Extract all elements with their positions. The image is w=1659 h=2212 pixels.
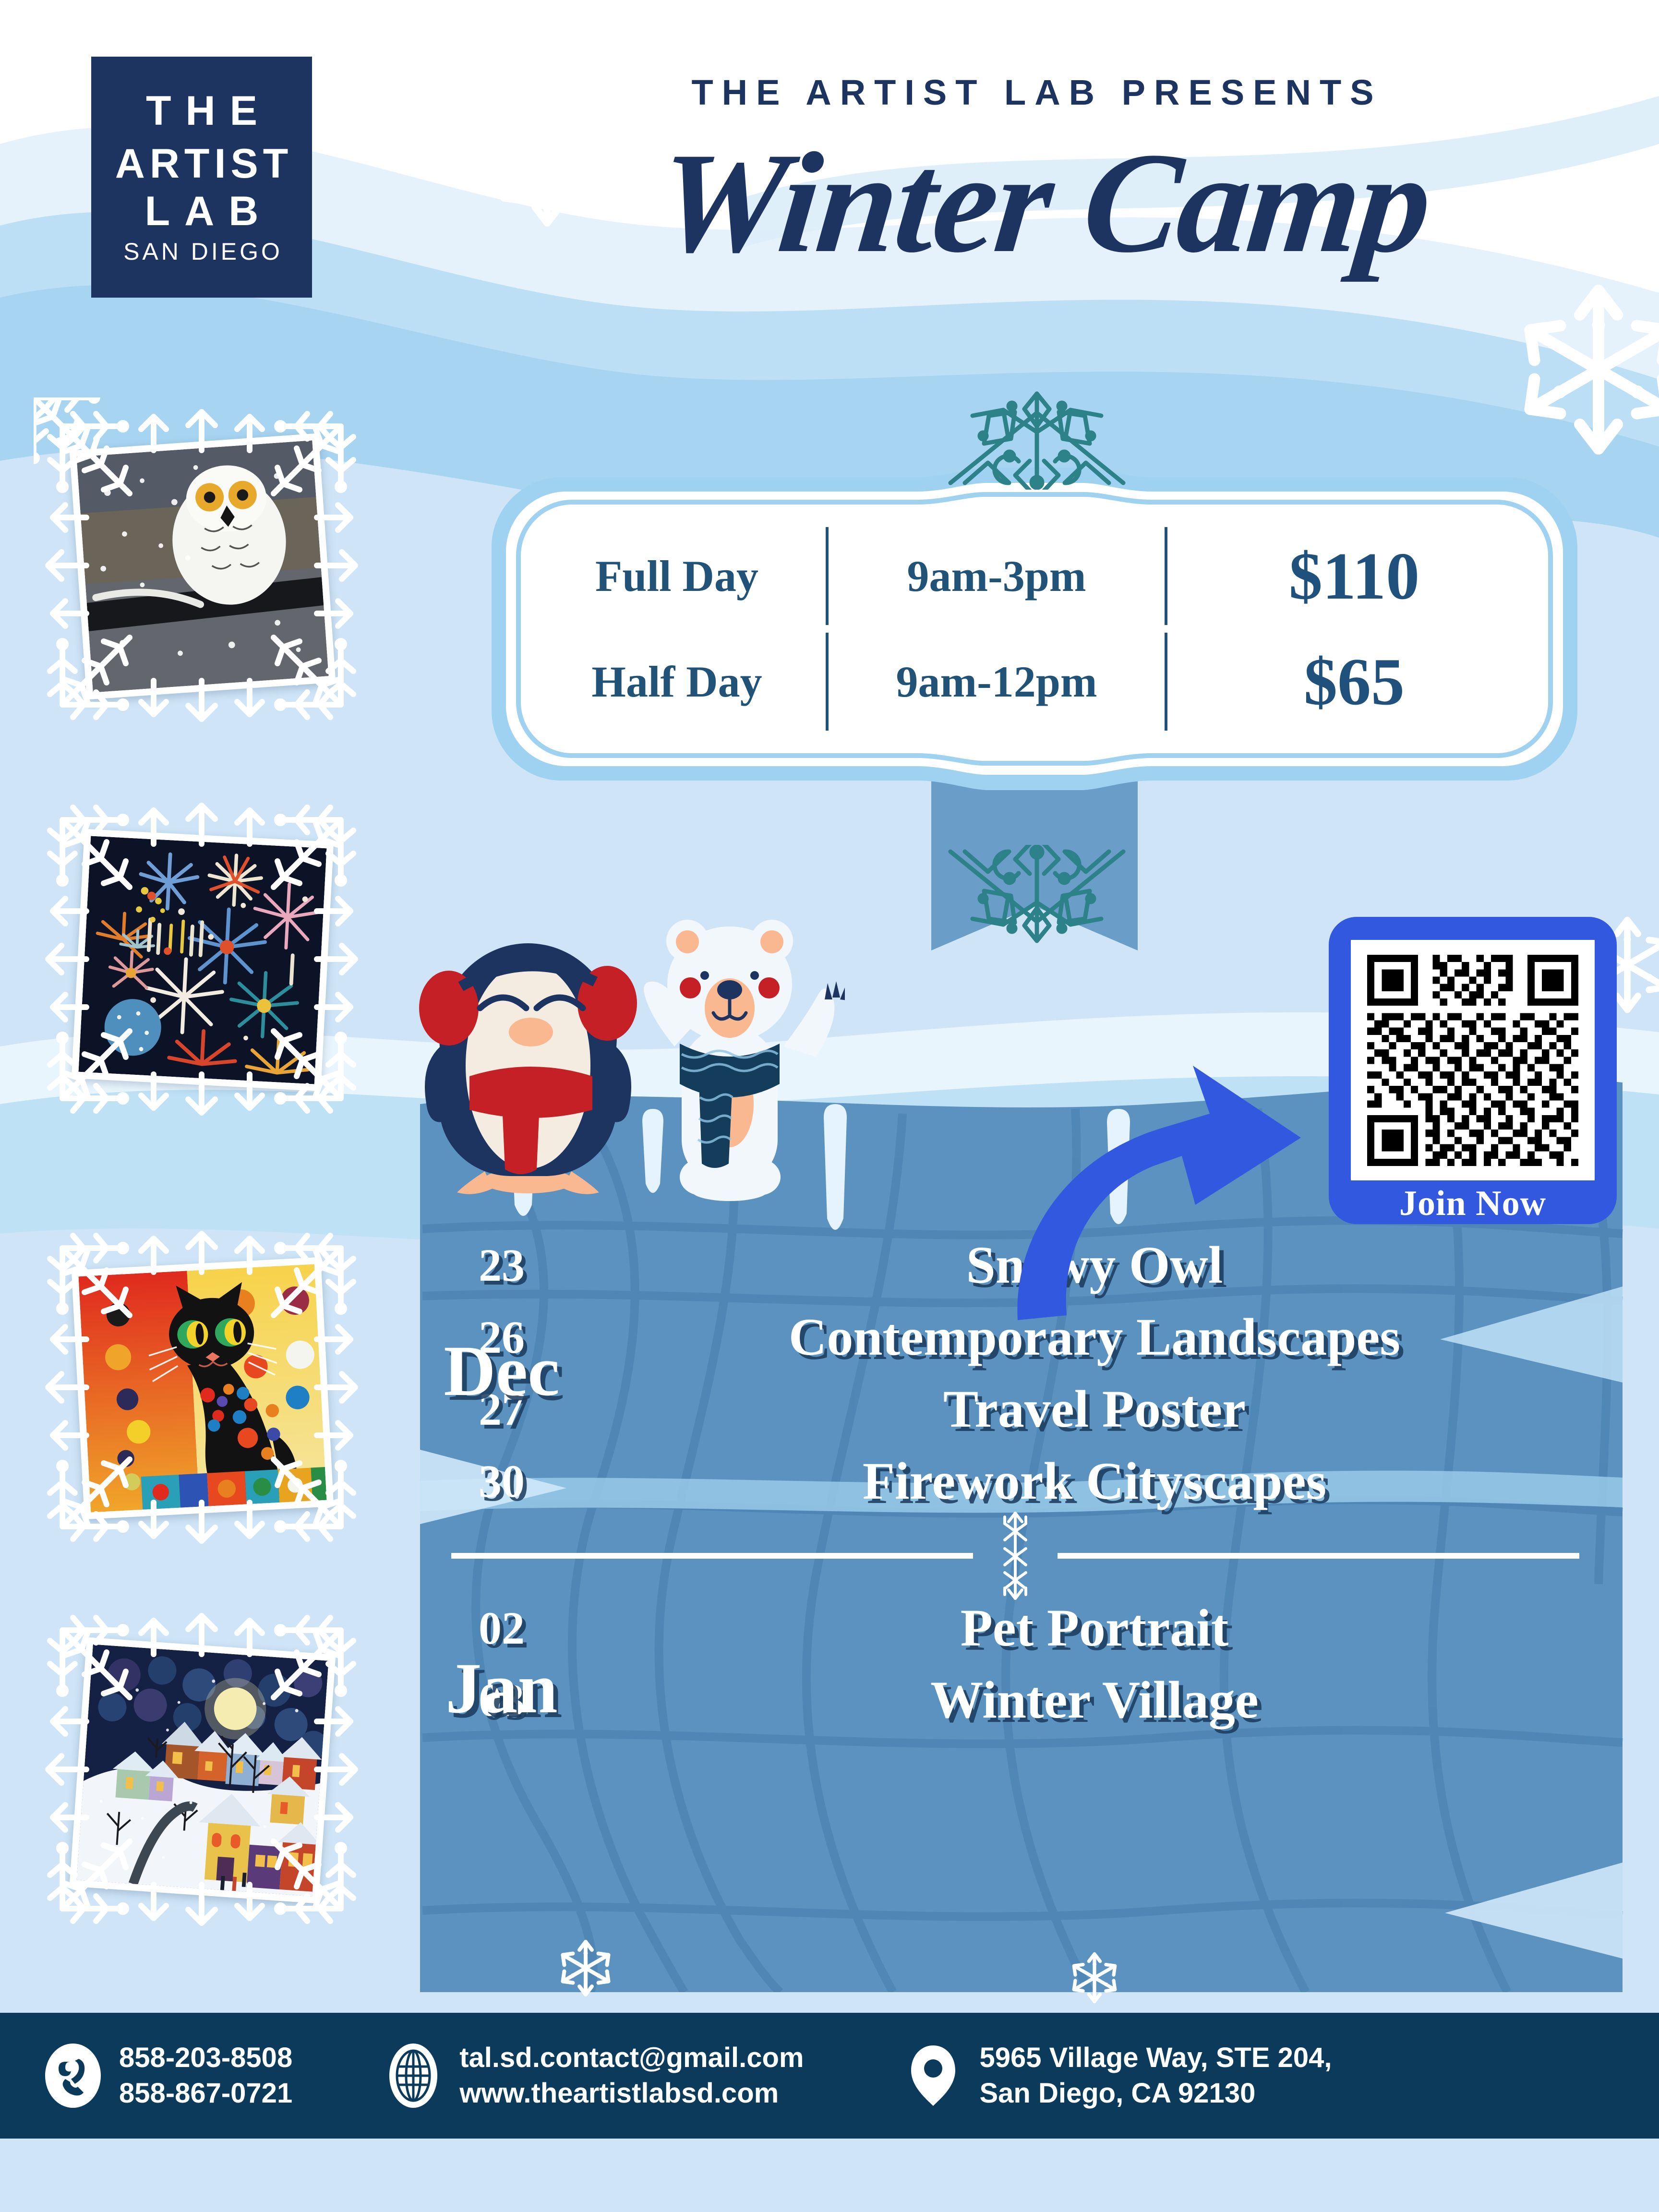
brand-logo: THE ARTIST LAB SAN DIEGO <box>91 57 312 298</box>
section-divider <box>451 1534 1579 1577</box>
logo-line-lab: LAB <box>131 191 273 233</box>
page-title: Winter Camp <box>495 120 1593 286</box>
artwork-photo <box>72 1257 334 1520</box>
logo-line-san-diego: SAN DIEGO <box>120 240 283 264</box>
pricing-label: Half Day <box>528 656 826 707</box>
snowflake-ornament-bottom <box>931 845 1142 950</box>
pricing-card: Full Day 9am-3pm $110 Half Day 9am-12pm … <box>485 461 1584 797</box>
session-title: Winter Village <box>581 1670 1608 1731</box>
month-label-jan: Jan <box>422 1647 581 1730</box>
qr-join-now-card[interactable]: Join Now <box>1329 917 1617 1224</box>
email-address[interactable]: tal.sd.contact@gmail.com <box>459 2040 804 2076</box>
session-day: 23 <box>422 1238 581 1292</box>
snowflake-ornament-top <box>931 384 1142 490</box>
arrow-to-qr-icon <box>1003 1046 1368 1344</box>
location-pin-icon <box>904 2043 962 2109</box>
pricing-row-half-day: Half Day 9am-12pm $65 <box>528 629 1541 734</box>
presents-eyebrow: THE ARTIST LAB PRESENTS <box>566 72 1507 113</box>
footer-phone-block: 858-203-8508 858-867-0721 <box>44 2040 292 2111</box>
footer-address-block: 5965 Village Way, STE 204, San Diego, CA… <box>904 2040 1332 2111</box>
session-day: 02 <box>422 1601 581 1655</box>
schedule-list: Dec 23 Snowy Owl 26 Contemporary Landsca… <box>422 1229 1608 1997</box>
snowflake-divider-icon <box>986 1510 1044 1601</box>
schedule-month-jan: Jan 02 Pet Portrait 03 Winter Village <box>422 1592 1608 1736</box>
month-label-dec: Dec <box>422 1330 581 1412</box>
artwork-photo <box>72 829 334 1092</box>
artwork-thumbnail-winter-village <box>34 1601 370 1937</box>
artwork-thumbnail-polka-dot-cat <box>34 1219 370 1555</box>
logo-line-artist: ARTIST <box>110 143 293 185</box>
pricing-price: $65 <box>1167 643 1541 721</box>
pricing-time: 9am-12pm <box>829 656 1165 707</box>
join-now-label[interactable]: Join Now <box>1399 1183 1546 1224</box>
qr-code-image[interactable] <box>1351 940 1595 1180</box>
pricing-label: Full Day <box>528 551 826 601</box>
footer-phone-text: 858-203-8508 858-867-0721 <box>119 2040 292 2111</box>
pricing-row-full-day: Full Day 9am-3pm $110 <box>528 523 1541 629</box>
artwork-thumbnail-snowy-owl <box>34 397 370 733</box>
schedule-row: 27 Travel Poster <box>422 1373 1608 1445</box>
artwork-photo <box>69 433 336 699</box>
phone-number-1[interactable]: 858-203-8508 <box>119 2040 292 2076</box>
session-day: 30 <box>422 1455 581 1508</box>
schedule-row: 30 Firework Cityscapes <box>422 1445 1608 1517</box>
globe-icon <box>385 2043 442 2109</box>
phone-number-2[interactable]: 858-867-0721 <box>119 2076 292 2111</box>
session-title: Firework Cityscapes <box>581 1451 1608 1512</box>
phone-icon <box>44 2043 102 2109</box>
website-url[interactable]: www.theartistlabsd.com <box>459 2076 804 2111</box>
footer-web-text: tal.sd.contact@gmail.com www.theartistla… <box>459 2040 804 2111</box>
schedule-row: 03 Winter Village <box>422 1664 1608 1736</box>
contact-footer: 858-203-8508 858-867-0721 tal.sd.contact… <box>0 2013 1659 2139</box>
address-line-1: 5965 Village Way, STE 204, <box>979 2040 1332 2076</box>
divider-line-left <box>451 1553 973 1559</box>
address-line-2: San Diego, CA 92130 <box>979 2076 1332 2111</box>
footer-web-block: tal.sd.contact@gmail.com www.theartistla… <box>385 2040 804 2111</box>
artwork-photo <box>69 1637 336 1903</box>
pricing-table: Full Day 9am-3pm $110 Half Day 9am-12pm … <box>528 523 1541 734</box>
schedule-row: 02 Pet Portrait <box>422 1592 1608 1664</box>
logo-line-the: THE <box>132 90 272 132</box>
artwork-thumbnail-firework-cityscape <box>34 791 370 1127</box>
pricing-time: 9am-3pm <box>829 551 1165 601</box>
footer-address-text: 5965 Village Way, STE 204, San Diego, CA… <box>979 2040 1332 2111</box>
session-title: Travel Poster <box>581 1379 1608 1440</box>
penguin-and-polar-bear-illustration <box>413 864 845 1229</box>
pricing-price: $110 <box>1167 538 1541 615</box>
session-title: Pet Portrait <box>581 1598 1608 1659</box>
divider-line-right <box>1058 1553 1579 1559</box>
